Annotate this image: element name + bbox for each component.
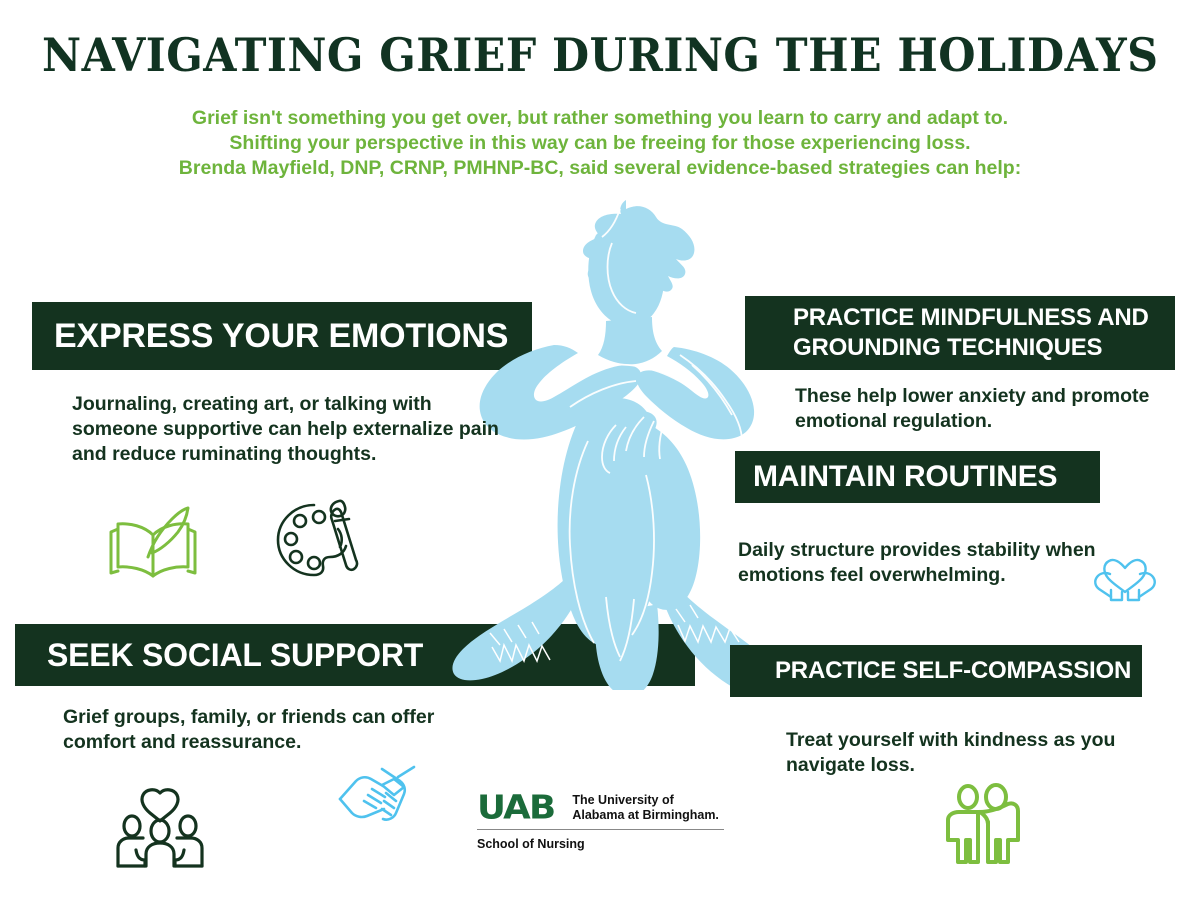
handshake-icon (338, 765, 416, 827)
section-heading-express-your-emotions: EXPRESS YOUR EMOTIONS (32, 302, 532, 370)
bar-label: PRACTICE SELF-COMPASSION (775, 657, 1131, 685)
subtitle-block: Grief isn't something you get over, but … (0, 106, 1200, 181)
bar-label: SEEK SOCIAL SUPPORT (47, 637, 423, 674)
university-name-line-1: The University of (572, 793, 719, 808)
section-heading-seek-social-support: SEEK SOCIAL SUPPORT (15, 624, 695, 686)
section-body-practice-mindfulness: These help lower anxiety and promote emo… (795, 384, 1155, 434)
bar-label-line-2: GROUNDING TECHNIQUES (793, 334, 1102, 361)
two-people-supporting-icon (940, 782, 1026, 868)
uab-school-of-nursing-logo: UAB The University of Alabama at Birming… (477, 791, 732, 863)
bar-label: MAINTAIN ROUTINES (753, 460, 1057, 494)
section-heading-practice-self-compassion: PRACTICE SELF-COMPASSION (730, 645, 1142, 697)
university-name: The University of Alabama at Birmingham. (572, 791, 719, 822)
hands-holding-heart-icon (1090, 540, 1160, 602)
logo-divider (477, 829, 724, 830)
infographic-canvas: NAVIGATING GRIEF DURING THE HOLIDAYS Gri… (0, 0, 1200, 900)
logo-row: UAB The University of Alabama at Birming… (477, 791, 732, 823)
page-title: NAVIGATING GRIEF DURING THE HOLIDAYS (42, 28, 1158, 82)
section-body-maintain-routines: Daily structure provides stability when … (738, 538, 1098, 588)
bar-label-line-1: PRACTICE MINDFULNESS AND (793, 304, 1149, 331)
subtitle-line-2: Shifting your perspective in this way ca… (0, 131, 1200, 156)
open-book-quill-icon (108, 495, 198, 580)
section-heading-practice-mindfulness: PRACTICE MINDFULNESS AND GROUNDING TECHN… (745, 296, 1175, 370)
university-name-line-2: Alabama at Birmingham. (572, 808, 719, 823)
school-name: School of Nursing (477, 837, 732, 851)
subtitle-line-3: Brenda Mayfield, DNP, CRNP, PMHNP-BC, sa… (0, 156, 1200, 181)
subtitle-line-1: Grief isn't something you get over, but … (0, 106, 1200, 131)
bar-label: EXPRESS YOUR EMOTIONS (54, 317, 508, 356)
section-body-practice-self-compassion: Treat yourself with kindness as you navi… (786, 728, 1146, 778)
section-heading-maintain-routines: MAINTAIN ROUTINES (735, 451, 1100, 503)
bar-label: PRACTICE MINDFULNESS AND GROUNDING TECHN… (793, 303, 1149, 363)
paint-palette-brush-icon (272, 495, 360, 583)
group-with-heart-icon (110, 788, 210, 870)
section-body-seek-social-support: Grief groups, family, or friends can off… (63, 705, 483, 755)
uab-wordmark: UAB (477, 791, 554, 825)
section-body-express-your-emotions: Journaling, creating art, or talking wit… (72, 392, 502, 467)
